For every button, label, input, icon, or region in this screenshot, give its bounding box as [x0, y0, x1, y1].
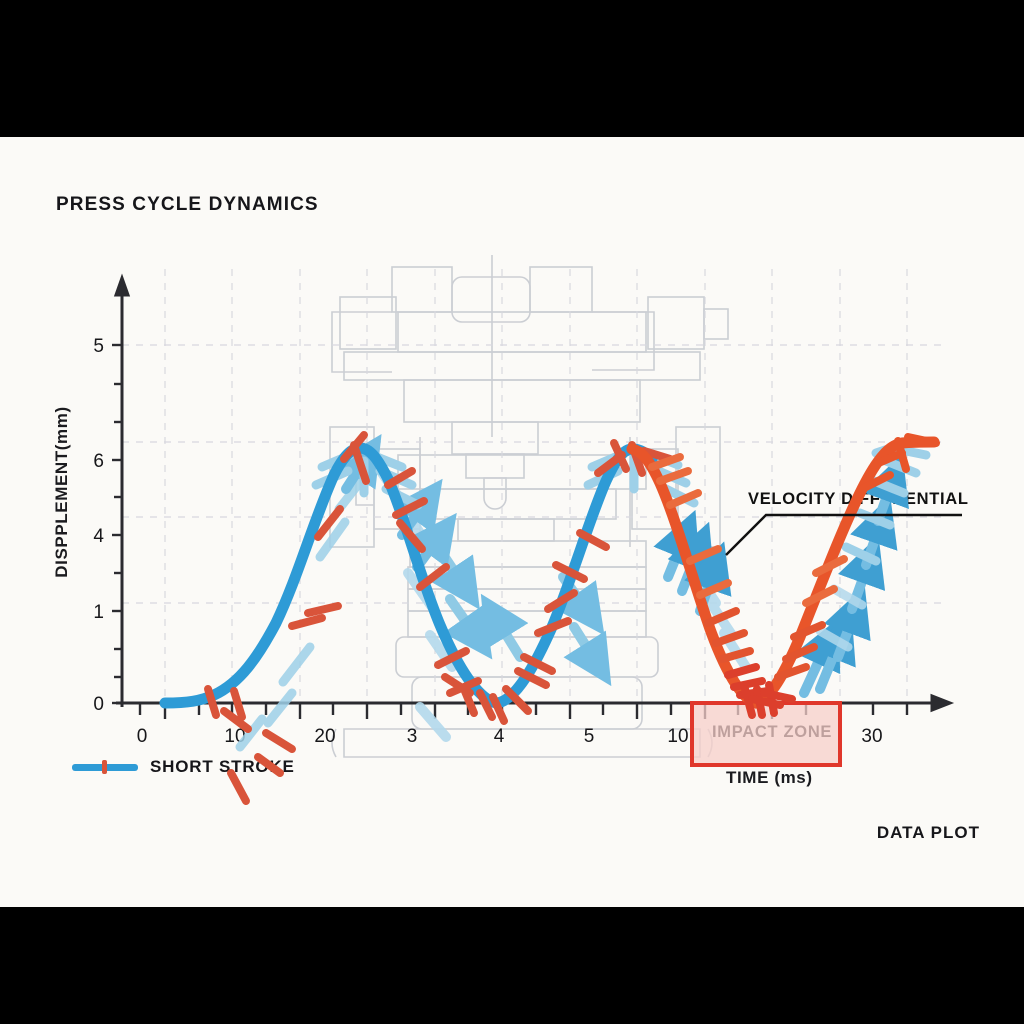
- impact-zone-box: [692, 703, 840, 765]
- x-tick-label: 30: [861, 726, 882, 747]
- x-tick-label: 5: [584, 726, 595, 747]
- x-tick-label: 0: [137, 726, 148, 747]
- y-tick-label: 6: [93, 451, 104, 472]
- y-axis-tick-labels: 5 6 4 1 0: [93, 336, 104, 715]
- x-tick-label: 4: [494, 726, 505, 747]
- x-tick-label: 3: [407, 726, 418, 747]
- chart-canvas: 5 6 4 1 0 0: [0, 137, 1024, 907]
- x-tick-label: 10: [667, 726, 688, 747]
- chart-page: PRESS CYCLE DYNAMICS DATA PLOT DISPPLEME…: [0, 137, 1024, 907]
- x-tick-label: 20: [314, 726, 335, 747]
- y-tick-label: 4: [93, 526, 104, 547]
- y-tick-label: 1: [93, 602, 104, 623]
- screenshot-stage: PRESS CYCLE DYNAMICS DATA PLOT DISPPLEME…: [0, 0, 1024, 1024]
- y-tick-label: 0: [93, 694, 104, 715]
- y-tick-label: 5: [93, 336, 104, 357]
